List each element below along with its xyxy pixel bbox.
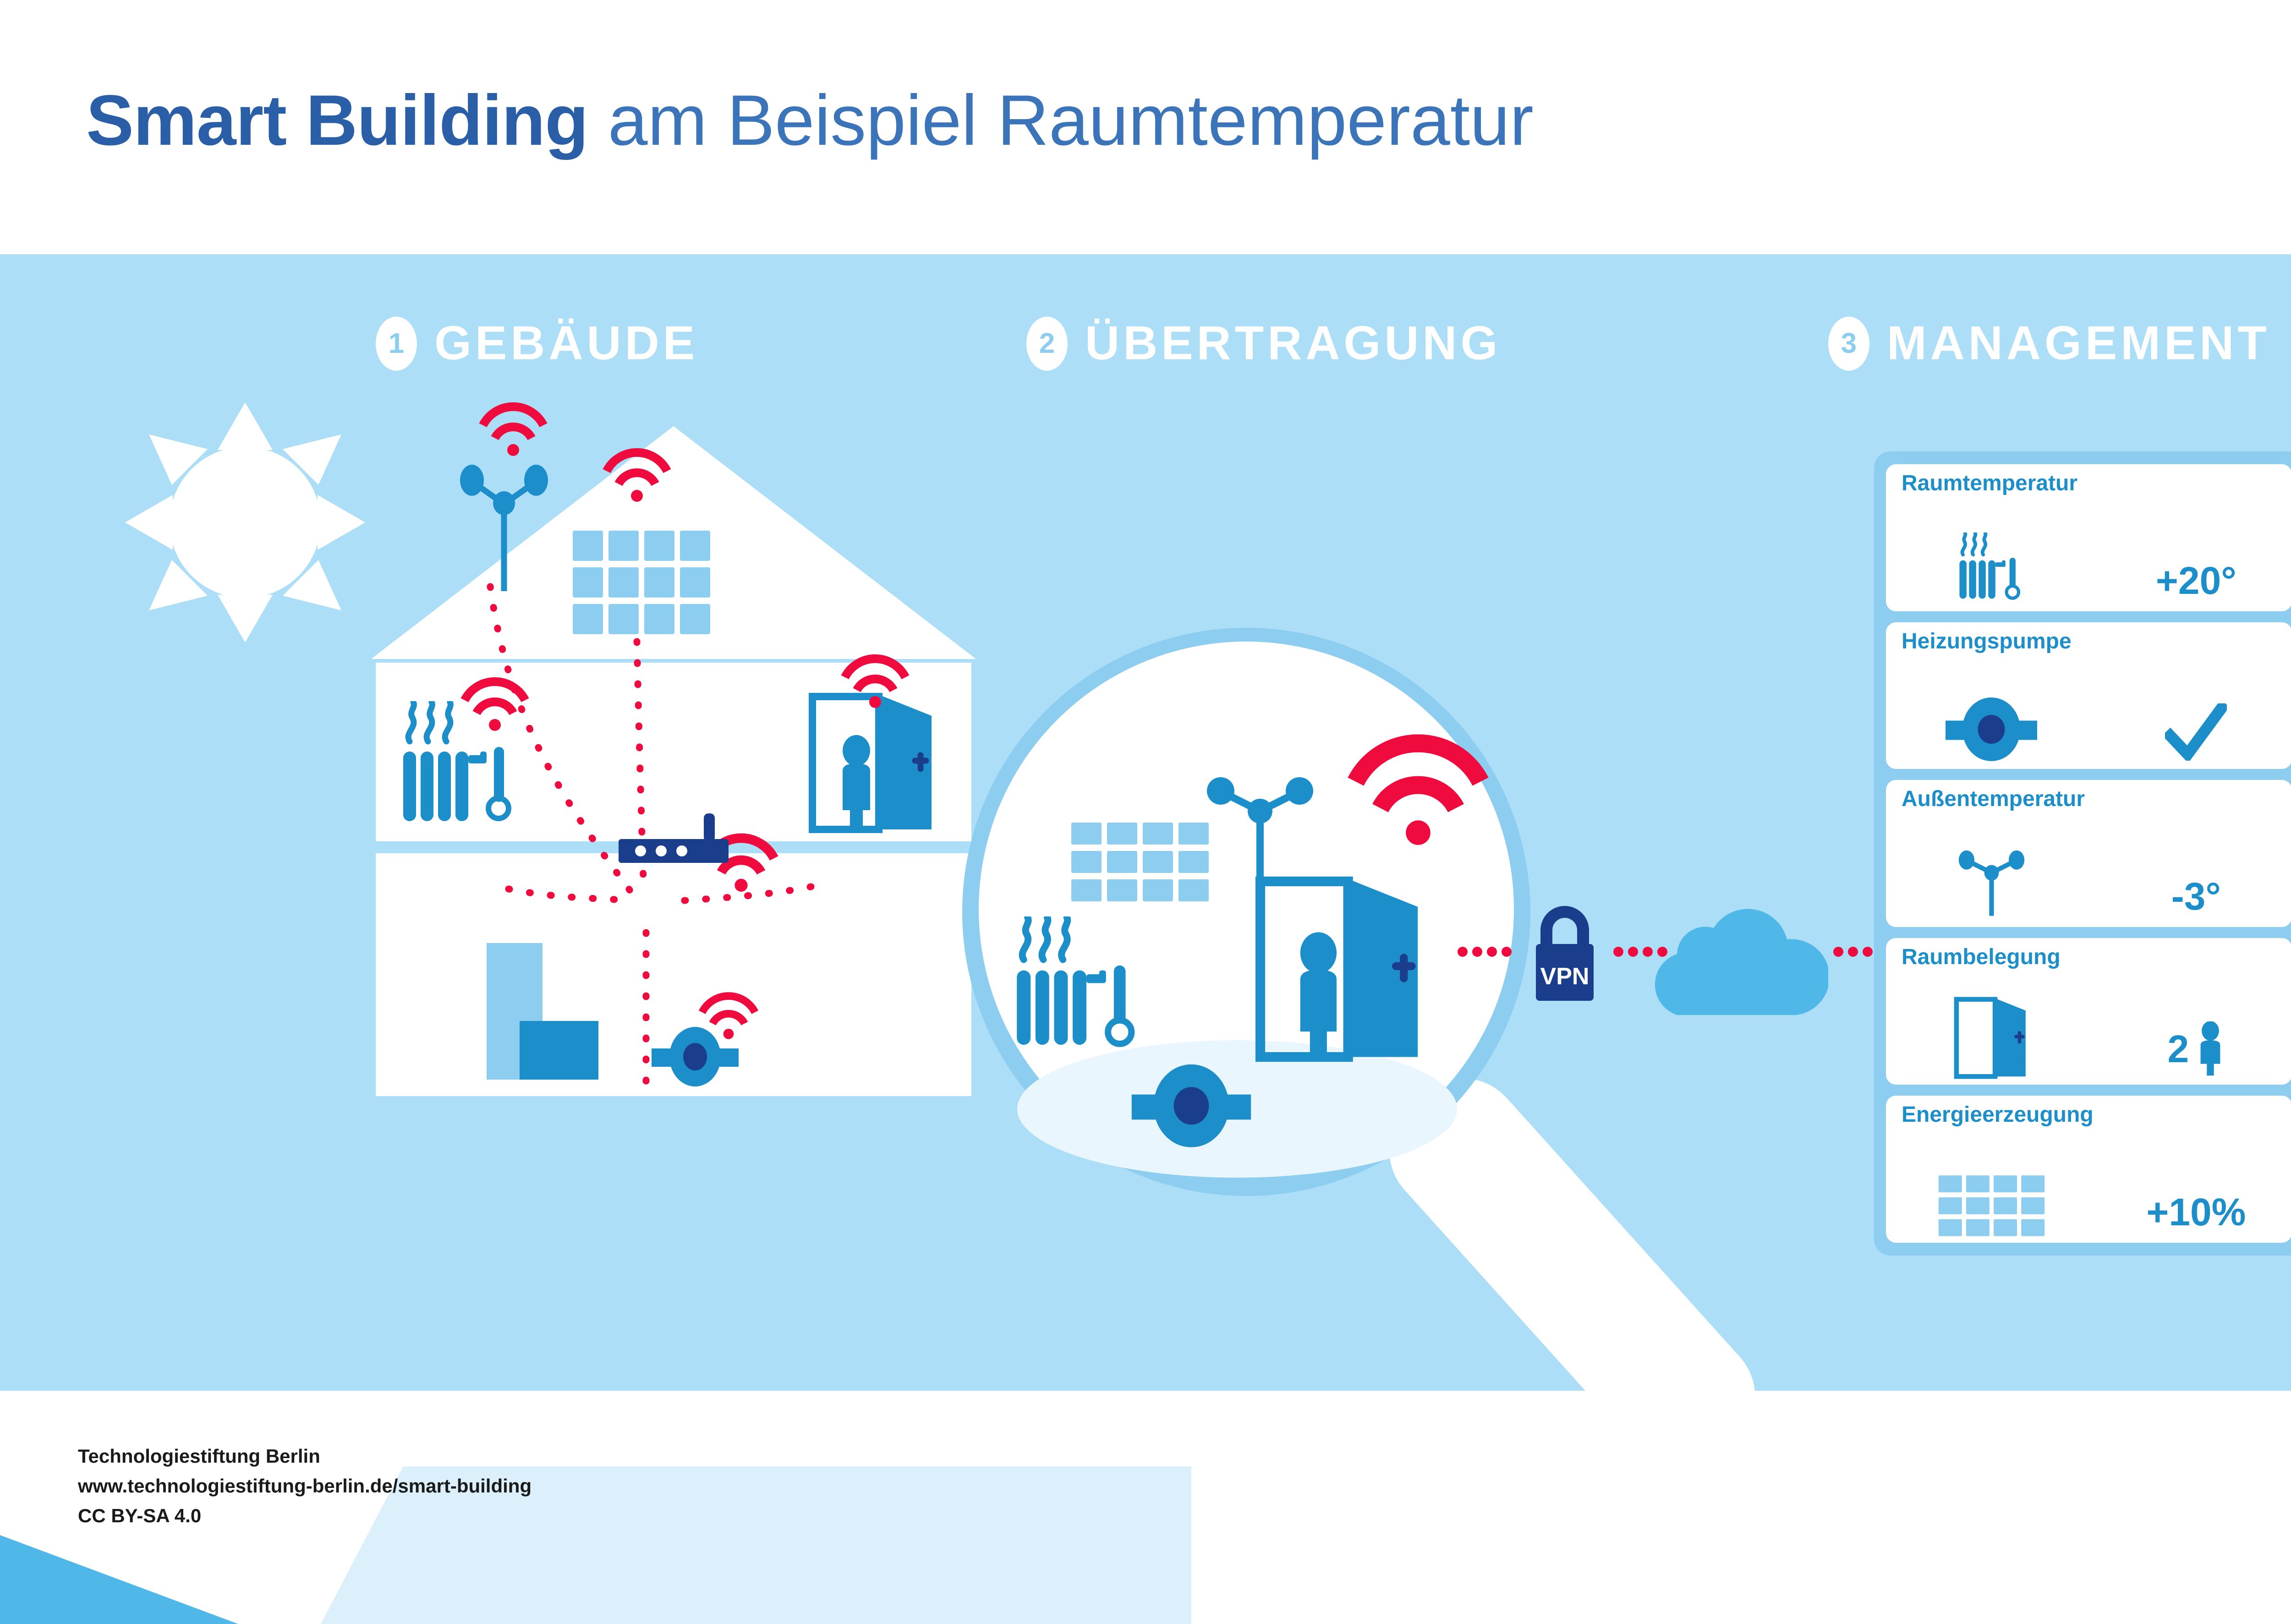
page-title: Smart Building am Beispiel Raumtemperatu… [86,85,1534,156]
card-title: Energieerzeugung [1902,1102,2094,1127]
wifi-icon [696,989,761,1039]
wifi-icon [1343,726,1494,845]
card-heizungspumpe: Heizungspumpe [1886,622,2291,769]
transmission-dots-left [1457,945,1521,959]
house-illustration [371,426,976,1288]
section-number-2: 2 [1026,317,1068,371]
card-value: +10% [2100,1190,2291,1243]
management-panel: Raumtemperatur [1874,451,2291,1256]
card-value: -3° [2100,874,2291,927]
card-value: 2 [2168,1027,2189,1071]
weather-station-icon [1200,774,1320,882]
boiler-icon [487,943,601,1081]
credit-line-3: CC BY-SA 4.0 [78,1501,532,1531]
card-title: Heizungspumpe [1902,629,2072,654]
card-body: Raumtemperatur [1886,464,2291,611]
open-door-icon [1886,997,2097,1085]
card-aussentemperatur: Außentemperatur [1886,780,2291,927]
card-title: Außentemperatur [1902,786,2085,812]
section-number-3: 3 [1828,317,1869,371]
wifi-icon [600,444,674,502]
card-body: Energieerzeugung [1886,1096,2291,1243]
section-label-3: MANAGEMENT [1887,316,2270,371]
credit-line-2[interactable]: www.technologiestiftung-berlin.de/smart-… [78,1471,532,1501]
person-icon [2196,1021,2225,1076]
wifi-icon [839,651,912,708]
card-title: Raumbelegung [1902,944,2061,970]
card-value [2100,703,2291,769]
section-header-uebertragung: 2 ÜBERTRAGUNG [1026,316,1501,371]
wifi-icon [458,674,532,731]
weather-station-icon [1886,846,2097,927]
open-door-person-icon [1255,875,1425,1063]
card-raumbelegung: Raumbelegung 2 [1886,938,2291,1085]
card-body: Heizungspumpe [1886,622,2291,769]
card-raumtemperatur: Raumtemperatur [1886,464,2291,611]
credit-block: Technologiestiftung Berlin www.technolog… [78,1441,532,1531]
magnifier [962,628,1530,1196]
section-header-management: 3 MANAGEMENT [1828,316,2270,371]
section-label-2: ÜBERTRAGUNG [1085,316,1501,371]
credit-line-1: Technologiestiftung Berlin [78,1441,532,1471]
wifi-icon [477,399,550,456]
solar-panel-icon [1886,1175,2097,1243]
card-title: Raumtemperatur [1902,471,2077,496]
title-bold: Smart Building [86,81,588,160]
cloud-icon [1645,884,1828,1017]
card-value-group: 2 [2100,1021,2291,1085]
vpn-lock-icon: VPN [1521,902,1608,1003]
open-door-person-icon [809,692,937,834]
card-value: +20° [2100,559,2291,611]
pump-icon [1125,1063,1258,1148]
checkmark-icon [2165,703,2227,761]
solar-panel-icon [1071,823,1209,903]
title-regular: am Beispiel Raumtemperatur [608,81,1534,160]
section-label-1: GEBÄUDE [434,316,698,371]
vpn-label: VPN [1540,963,1589,990]
card-body: Raumbelegung 2 [1886,938,2291,1085]
infographic-canvas: Smart Building am Beispiel Raumtemperatu… [0,0,2291,1624]
radiator-thermometer-icon [1003,916,1155,1059]
radiator-thermometer-icon [1886,532,2097,611]
section-header-gebaeude: 1 GEBÄUDE [376,316,698,371]
router-icon [619,813,742,864]
card-body: Außentemperatur [1886,780,2291,927]
pump-icon [1886,695,2097,769]
section-number-1: 1 [376,317,417,371]
card-energieerzeugung: Energieerzeugung [1886,1096,2291,1243]
